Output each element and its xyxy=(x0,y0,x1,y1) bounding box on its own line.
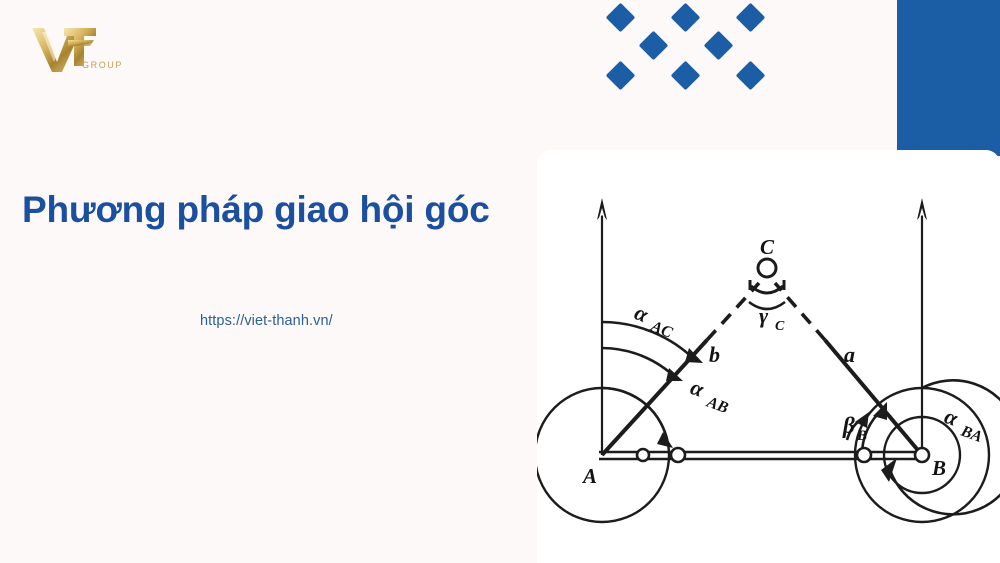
diamond-decor-7 xyxy=(671,61,701,91)
logo-wordmark: GROUP xyxy=(82,60,123,70)
svg-text:C: C xyxy=(760,235,775,259)
baseline-node-2 xyxy=(671,448,685,462)
label-side-a: a xyxy=(844,342,855,367)
diamond-decor-5 xyxy=(704,31,734,61)
label-alpha-ac: α AC xyxy=(631,299,675,341)
diamond-decor-3 xyxy=(736,3,766,33)
label-alpha-ab: α AB xyxy=(687,374,731,417)
diamond-decor-2 xyxy=(671,3,701,33)
angle-intersection-survey-diagram: A B C b a α AC α AB α xyxy=(537,150,1000,563)
svg-text:B: B xyxy=(856,428,867,444)
alpha-ba-arc xyxy=(890,380,1000,514)
label-alpha-ba: α BA xyxy=(941,403,985,446)
svg-text:C: C xyxy=(775,319,785,334)
svg-text:BA: BA xyxy=(958,422,985,446)
diamond-decoration-grid xyxy=(600,0,780,100)
label-point-c: C xyxy=(760,235,775,259)
svg-text:α: α xyxy=(687,374,708,402)
logo-t-bar xyxy=(68,40,94,46)
svg-text:a: a xyxy=(844,342,855,367)
svg-text:α: α xyxy=(631,299,652,327)
logo-artwork: GROUP xyxy=(24,22,124,74)
sight-ray-b-to-c xyxy=(825,340,922,455)
diamond-decor-8 xyxy=(736,61,766,91)
blue-accent-block xyxy=(897,0,1000,156)
diamond-decor-6 xyxy=(606,61,636,91)
baseline-node-1 xyxy=(637,449,649,461)
label-side-b: b xyxy=(709,342,720,367)
svg-text:β: β xyxy=(842,413,855,438)
alpha-ac-inner-arc xyxy=(602,348,677,379)
page-title: Phương pháp giao hội góc xyxy=(22,188,490,232)
svg-text:b: b xyxy=(709,342,720,367)
station-c-marker xyxy=(758,259,776,277)
slide-canvas: GROUP Phương pháp giao hội góc https://v… xyxy=(0,0,1000,563)
baseline-node-3 xyxy=(857,448,871,462)
figure-card: A B C b a α AC α AB α xyxy=(537,150,1000,563)
station-b-node xyxy=(915,448,929,462)
svg-text:AB: AB xyxy=(704,393,731,417)
svg-text:A: A xyxy=(581,464,597,488)
svg-text:α: α xyxy=(941,403,962,431)
label-point-b: B xyxy=(931,456,946,480)
label-point-a: A xyxy=(581,464,597,488)
diamond-decor-4 xyxy=(639,31,669,61)
svg-text:γ: γ xyxy=(759,303,769,328)
svg-text:AC: AC xyxy=(648,318,675,342)
alpha-ac-arc xyxy=(602,322,696,361)
leg-b-dashed xyxy=(707,283,759,340)
svg-text:B: B xyxy=(931,456,946,480)
diamond-decor-1 xyxy=(606,3,636,33)
vt-group-logo: GROUP xyxy=(24,22,124,74)
site-url-text: https://viet-thanh.vn/ xyxy=(200,313,333,329)
